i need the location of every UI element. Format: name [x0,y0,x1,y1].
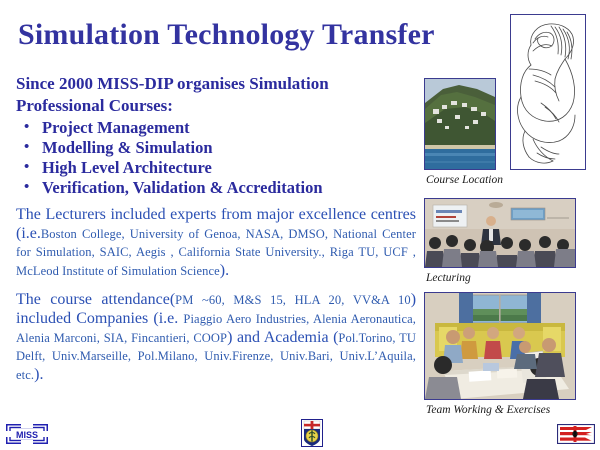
attendance-paragraph: The course attendance(PM ~60, M&S 15, HL… [16,290,416,384]
team-working-photo [424,292,576,400]
team-working-photo-graphic [425,293,575,399]
team-working-caption: Team Working & Exercises [426,404,550,417]
attendance-detail-1: PM ~60, M&S 15, HLA 20, VV&A 10 [175,293,411,307]
miss-logo-icon: MISS [6,424,48,444]
page-title: Simulation Technology Transfer [18,18,438,52]
list-item: Project Management [16,118,416,138]
list-item: Verification, Validation & Accreditation [16,178,416,198]
genoa-crest-logo[interactable] [301,419,323,447]
list-item: High Level Architecture [16,158,416,178]
miss-logo[interactable]: MISS [6,424,48,444]
university-crest-icon [301,419,323,447]
list-item: Modelling & Simulation [16,138,416,158]
lecturers-detail: Boston College, University of Genoa, NAS… [16,227,416,278]
attendance-paren-3-close: ). [34,366,43,383]
course-location-photo [424,78,496,170]
lecturing-caption: Lecturing [426,272,471,285]
lecture-room-photo-graphic [425,199,575,267]
coastline-photo-graphic [425,79,495,169]
attendance-paren-1-close: ) [411,291,416,308]
attendance-emphasis-3: and Academia [232,329,333,346]
attendance-emphasis-1: The course attendance [16,291,170,308]
lecturing-photo [424,198,576,268]
course-bullet-list: Project Management Modelling & Simulatio… [16,118,416,198]
svg-text:MISS: MISS [16,430,38,440]
liophant-flag-logo[interactable] [557,424,595,444]
course-location-caption: Course Location [426,174,503,187]
intro-line-2: Professional Courses: [16,96,416,115]
attendance-emphasis-2: included Companies [16,310,153,327]
content-column: Since 2000 MISS-DIP organises Simulation… [16,74,416,384]
lecturers-paragraph: The Lecturers included experts from majo… [16,205,416,280]
siren-drawing-image [510,14,586,170]
slide-root: Simulation Technology Transfer Since 200… [0,0,600,450]
siren-illustration-icon [511,15,585,169]
flag-logo-icon [557,424,595,444]
lecturers-close-paren: ). [220,262,229,279]
attendance-paren-2-open: (i.e. [153,310,183,327]
intro-line-1: Since 2000 MISS-DIP organises Simulation [16,74,416,93]
